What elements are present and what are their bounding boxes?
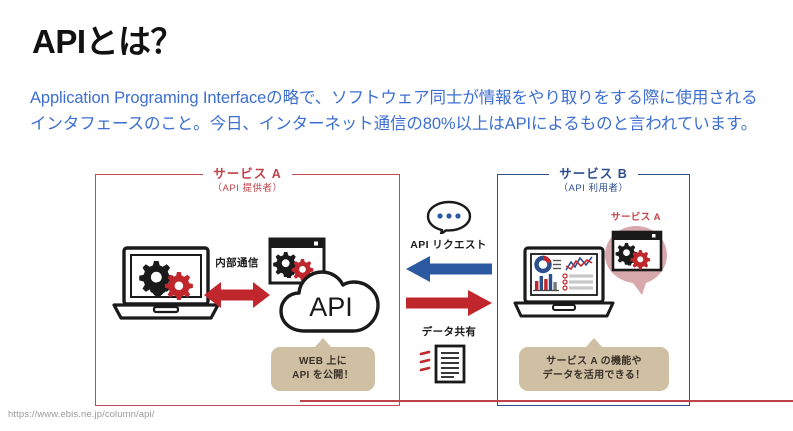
api-request-arrow [406,255,492,288]
data-share-label: データ共有 [408,324,490,339]
callout-use-service-a: サービス A の機能や データを活用できる！ [519,347,669,391]
source-url: https://www.ebis.ne.jp/column/api/ [8,409,155,420]
internal-communication-arrow [204,278,270,317]
panel-service-a-subtitle: （API 提供者） [96,180,399,194]
panel-service-a: サービス A （API 提供者） [95,174,400,406]
panel-service-b-subtitle: （API 利用者） [498,180,689,194]
api-request-label: API リクエスト [399,237,498,252]
internal-communication-label: 内部通信 [206,255,268,270]
bottom-rule [300,400,793,402]
callout-publish-api-line2: API を公開！ [292,369,354,384]
intro-paragraph: Application Programing Interfaceの略で、ソフトウ… [30,86,766,137]
callout-publish-api: WEB 上に API を公開！ [271,347,375,391]
callout-tail [314,338,332,348]
middle-flow: API リクエスト データ共有 [400,174,497,406]
panel-service-b: サービス B （API 利用者） サービス A [497,174,690,406]
chat-bubble-icon [426,200,472,239]
api-cloud-icon: API [279,265,381,342]
callout-use-service-a-line1: サービス A の機能や [543,355,646,370]
callout-tail [585,338,603,348]
service-a-bubble-label: サービス A [596,209,676,223]
slide-canvas: APIとは？ Application Programing Interfaceの… [0,0,793,431]
document-icon [418,342,476,391]
api-cloud-text: API [309,292,353,322]
service-a-window-icon [611,230,663,277]
page-title: APIとは？ [32,24,183,60]
data-share-arrow [406,289,492,322]
callout-publish-api-line1: WEB 上に [292,355,354,370]
laptop-dashboard-icon [512,245,616,326]
callout-use-service-a-line2: データを活用できる！ [543,369,646,384]
api-diagram: サービス A （API 提供者） [0,160,793,410]
